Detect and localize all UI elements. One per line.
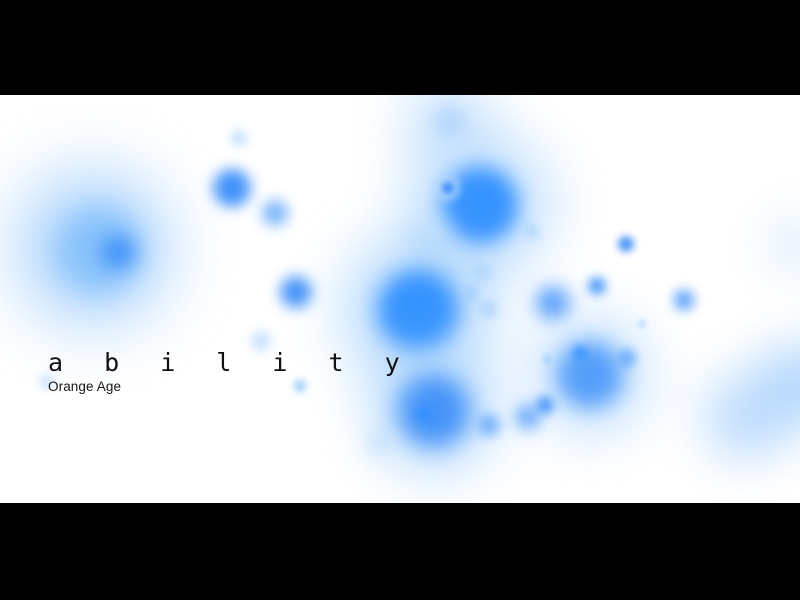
bokeh-dot-right-bottom-2 [516,405,540,429]
bokeh-core-upper-big [442,167,518,243]
bokeh-dot-lower-left-1 [368,431,392,455]
bokeh-dot-centre-r3 [479,300,497,318]
bokeh-core-right-lower [557,342,623,408]
page-title: a b i l i t y [48,350,413,376]
letterbox-top-bar [0,0,800,95]
bokeh-halo-right-lower [532,317,648,433]
bokeh-core-centre-big [378,270,458,350]
bokeh-dot-upper-faint [231,130,247,146]
bokeh-halo-upper-big [410,135,550,275]
bokeh-blob-right-edge-faint [765,215,800,275]
bokeh-blob-far-right-pale [702,373,790,461]
bokeh-core-left-large [58,208,142,292]
bokeh-dot-right-5 [638,320,646,328]
bokeh-dot-upper-ringcore [442,182,454,194]
bokeh-core-left-dense [101,235,135,269]
bokeh-dot-centre-r2 [463,285,479,301]
video-content-band: a b i l i t y Orange Age [0,95,800,503]
bokeh-dot-right-3 [674,290,694,310]
bokeh-dot-right-4 [536,286,570,320]
bokeh-halo-left-large [14,170,170,326]
bokeh-ring-upper-left [434,175,460,201]
bokeh-dot-right-lower-core [573,346,587,360]
bokeh-circle-mid-left-big [213,169,251,207]
bokeh-circle-mid-centre [280,276,312,308]
bokeh-halo-top-centre [402,95,494,167]
page-subtitle: Orange Age [48,379,413,395]
bokeh-dot-right-bottom-1 [536,396,554,414]
bokeh-dot-lower-centre-core [417,408,431,422]
bokeh-blob-right-edge [760,345,800,425]
bokeh-ring-top-centre [433,105,465,137]
bokeh-dot-right-lower-side [618,349,636,367]
letterbox-bottom-bar [0,503,800,600]
screen: a b i l i t y Orange Age [0,0,800,600]
bokeh-background [0,95,800,503]
bokeh-dot-right-lower-small [543,355,551,363]
bokeh-dot-centre-r1 [473,263,491,281]
bokeh-dot-right-2 [588,277,606,295]
bokeh-blob-left-of-upper [410,220,446,256]
bokeh-dot-upper-right [525,225,539,239]
title-card: a b i l i t y Orange Age [48,350,413,395]
bokeh-dot-right-1 [618,236,634,252]
bokeh-circle-mid-left-small [262,200,288,226]
bokeh-dot-lower-right-1 [478,414,500,436]
